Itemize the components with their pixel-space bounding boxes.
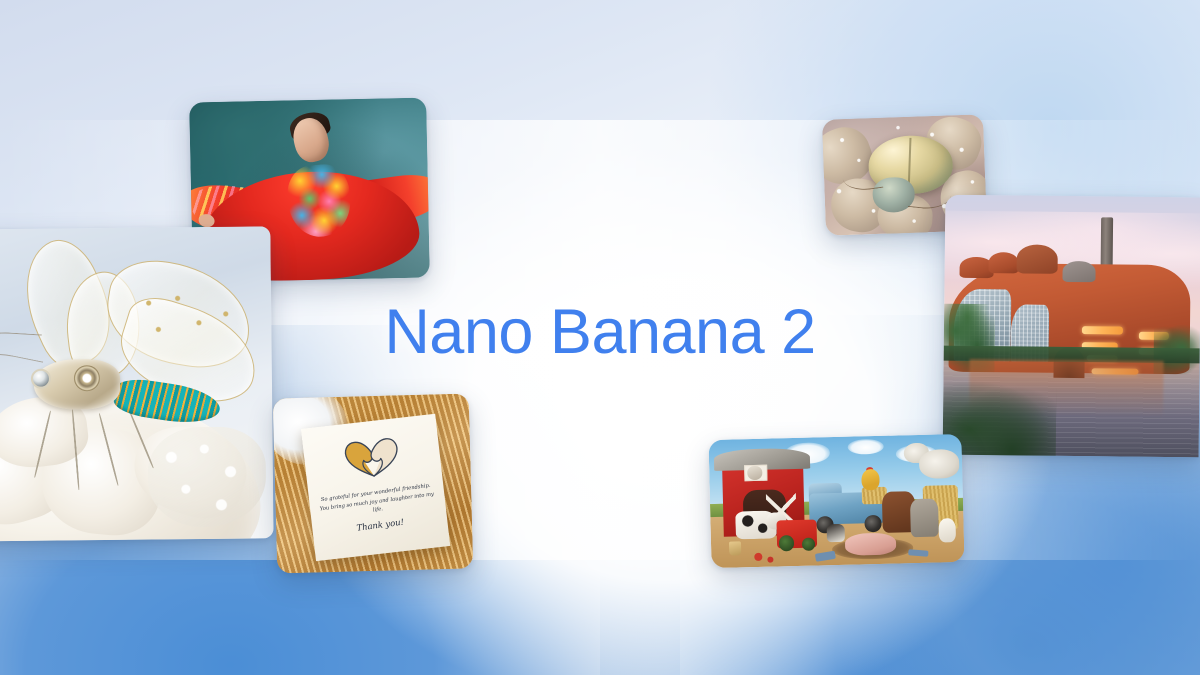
truck-wheel	[865, 515, 882, 532]
apple	[754, 553, 762, 561]
card-message: So grateful for your wonderful friendshi…	[318, 481, 437, 522]
roof-dome	[1062, 261, 1095, 282]
pig	[845, 533, 896, 556]
card-signoff: Thank you!	[356, 516, 405, 532]
jeweled-dragonfly-photo	[0, 226, 274, 541]
greeting-card-paper: So grateful for your wonderful friendshi…	[301, 413, 450, 560]
tractor-wheel	[802, 537, 815, 550]
roof-dome	[1016, 245, 1057, 274]
farm-dog	[827, 524, 845, 542]
milk-bucket	[729, 542, 742, 556]
goose	[938, 519, 956, 542]
chicken	[861, 469, 879, 490]
page-title: Nano Banana 2	[0, 296, 1200, 368]
gallery-card-claymation-farm[interactable]	[708, 434, 964, 568]
gallery-card-jeweled-dragonfly[interactable]	[0, 226, 274, 541]
hero-banner: So grateful for your wonderful friendshi…	[0, 0, 1200, 675]
donkey	[910, 499, 939, 538]
gallery-card-thank-you[interactable]: So grateful for your wonderful friendshi…	[273, 393, 474, 573]
hands-heart-icon	[327, 428, 418, 485]
sheep	[919, 449, 960, 478]
claymation-farm-photo	[708, 434, 964, 568]
thank-you-card-photo: So grateful for your wonderful friendshi…	[273, 393, 474, 573]
lace-fabric	[147, 426, 267, 527]
roof-dome	[988, 252, 1019, 273]
horse-in-window	[747, 466, 763, 480]
